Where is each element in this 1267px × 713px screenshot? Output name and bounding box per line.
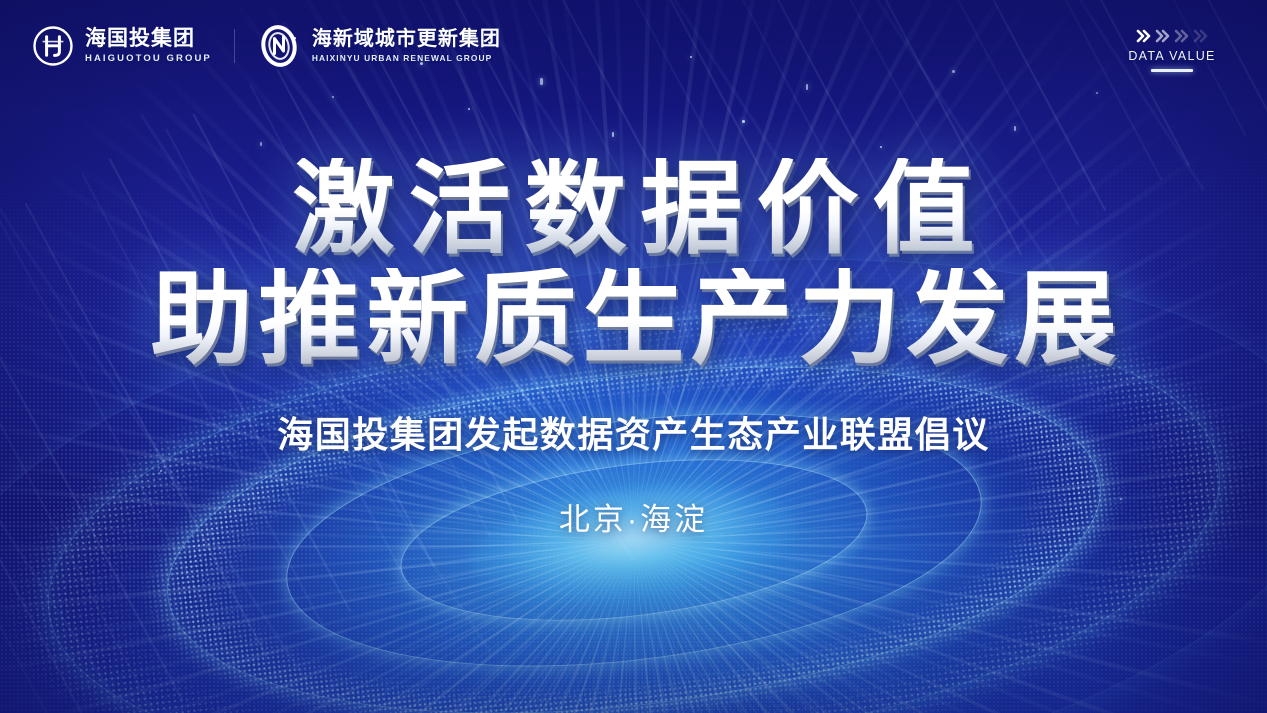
tagline-label: DATA VALUE [1107, 49, 1237, 63]
poster-header: 海国投集团 HAIGUOTOU GROUP [0, 0, 1267, 96]
logo-haixinyu-en: HAIXINYU URBAN RENEWAL GROUP [312, 54, 501, 62]
tagline-underline-bar [1151, 69, 1193, 72]
ring-n-monogram-icon [257, 24, 301, 68]
logo-divider [234, 29, 235, 63]
double-chevron-right-icon-3 [1174, 29, 1189, 43]
logo-haixinyu[interactable]: 海新域城市更新集团 HAIXINYU URBAN RENEWAL GROUP [257, 24, 501, 68]
logo-haiguotou[interactable]: 海国投集团 HAIGUOTOU GROUP [32, 25, 212, 67]
logo-haixinyu-cn: 海新域城市更新集团 [312, 29, 501, 49]
logo-lockup-group: 海国投集团 HAIGUOTOU GROUP [32, 24, 501, 68]
double-chevron-right-icon-2 [1155, 29, 1170, 43]
logo-haixinyu-wordmark: 海新域城市更新集团 HAIXINYU URBAN RENEWAL GROUP [312, 29, 501, 62]
logo-haiguotou-en: HAIGUOTOU GROUP [85, 54, 212, 64]
data-value-tagline: DATA VALUE [1107, 28, 1237, 72]
poster-canvas: 海国投集团 HAIGUOTOU GROUP [0, 0, 1267, 713]
logo-haiguotou-cn: 海国投集团 [85, 28, 212, 49]
double-chevron-right-icon-1 [1136, 29, 1151, 43]
double-chevron-right-icon-4 [1193, 29, 1208, 43]
logo-haiguotou-wordmark: 海国投集团 HAIGUOTOU GROUP [85, 28, 212, 64]
circle-h-monogram-icon [32, 25, 74, 67]
dot-matrix-texture-fine [0, 0, 1267, 713]
chevron-row [1107, 28, 1237, 44]
